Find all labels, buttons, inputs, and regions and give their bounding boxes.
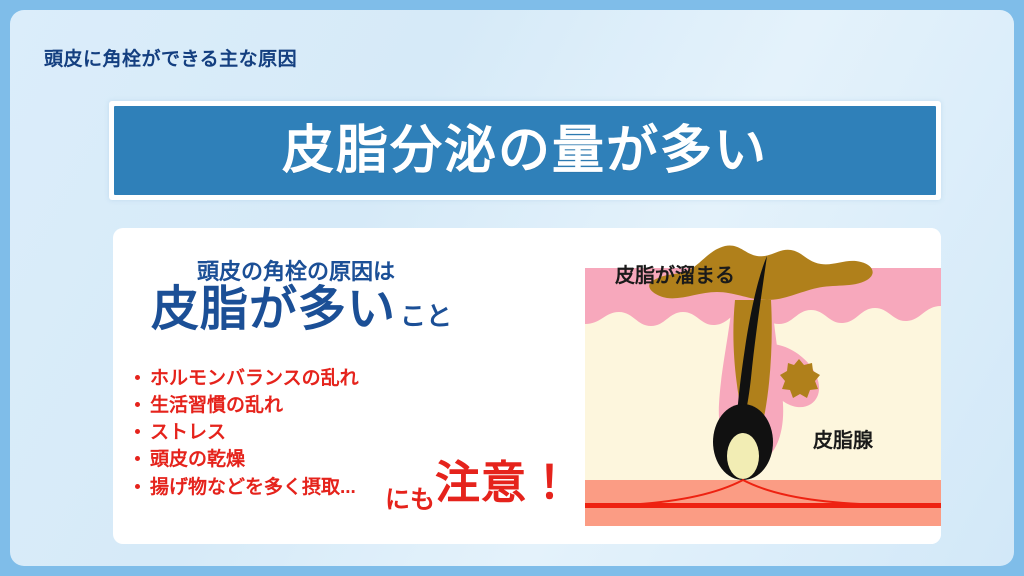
lead-headline-suffix: こと xyxy=(400,296,452,333)
caution-callout: にも 注意！ xyxy=(385,460,573,506)
caution-prefix: にも xyxy=(385,480,435,516)
bullet-dot-icon xyxy=(135,375,140,380)
bullet-dot-icon xyxy=(135,429,140,434)
dermal-papilla xyxy=(727,433,759,479)
list-item-label: 頭皮の乾燥 xyxy=(150,446,245,473)
lead-subtitle: 頭皮の角栓の原因は xyxy=(197,254,395,286)
list-item-label: 揚げ物などを多く摂取... xyxy=(150,474,356,501)
bullet-dot-icon xyxy=(135,484,140,489)
list-item: ストレス xyxy=(135,419,359,446)
list-item: ホルモンバランスの乱れ xyxy=(135,365,359,392)
slide-panel: 頭皮に角栓ができる主な原因 皮脂分泌の量が多い 頭皮の角栓の原因は 皮脂が多い … xyxy=(10,10,1014,566)
list-item: 揚げ物などを多く摂取... xyxy=(135,474,359,501)
lead-headline-main: 皮脂が多い xyxy=(151,286,396,334)
lead-headline: 皮脂が多い こと xyxy=(151,286,452,334)
blood-vessel-line xyxy=(585,503,941,508)
slide-root: 頭皮に角栓ができる主な原因 皮脂分泌の量が多い 頭皮の角栓の原因は 皮脂が多い … xyxy=(0,0,1024,576)
illustration-label-sebum-buildup: 皮脂が溜まる xyxy=(615,259,735,288)
illustration-base-background xyxy=(585,526,941,544)
content-left-column: 頭皮の角栓の原因は 皮脂が多い こと ホルモンバランスの乱れ 生活習慣の乱れ xyxy=(113,228,583,544)
list-item-label: ホルモンバランスの乱れ xyxy=(150,365,359,392)
bullet-dot-icon xyxy=(135,456,140,461)
caution-emphasis: 注意！ xyxy=(435,460,573,505)
bullet-dot-icon xyxy=(135,402,140,407)
illustration-label-sebaceous-gland: 皮脂腺 xyxy=(813,424,873,453)
skin-cross-section-illustration: 皮脂が溜まる 皮脂腺 xyxy=(585,228,941,544)
list-item-label: 生活習慣の乱れ xyxy=(150,392,283,419)
list-item: 頭皮の乾燥 xyxy=(135,446,359,473)
headline-banner-text: 皮脂分泌の量が多い xyxy=(282,125,768,177)
page-eyebrow-title: 頭皮に角栓ができる主な原因 xyxy=(44,44,297,71)
list-item: 生活習慣の乱れ xyxy=(135,392,359,419)
list-item-label: ストレス xyxy=(150,419,226,446)
headline-banner-fill: 皮脂分泌の量が多い xyxy=(114,106,936,195)
cause-bullet-list: ホルモンバランスの乱れ 生活習慣の乱れ ストレス 頭皮の乾燥 xyxy=(135,365,359,501)
headline-banner: 皮脂分泌の量が多い xyxy=(109,101,941,200)
content-card: 頭皮の角栓の原因は 皮脂が多い こと ホルモンバランスの乱れ 生活習慣の乱れ xyxy=(113,228,941,544)
